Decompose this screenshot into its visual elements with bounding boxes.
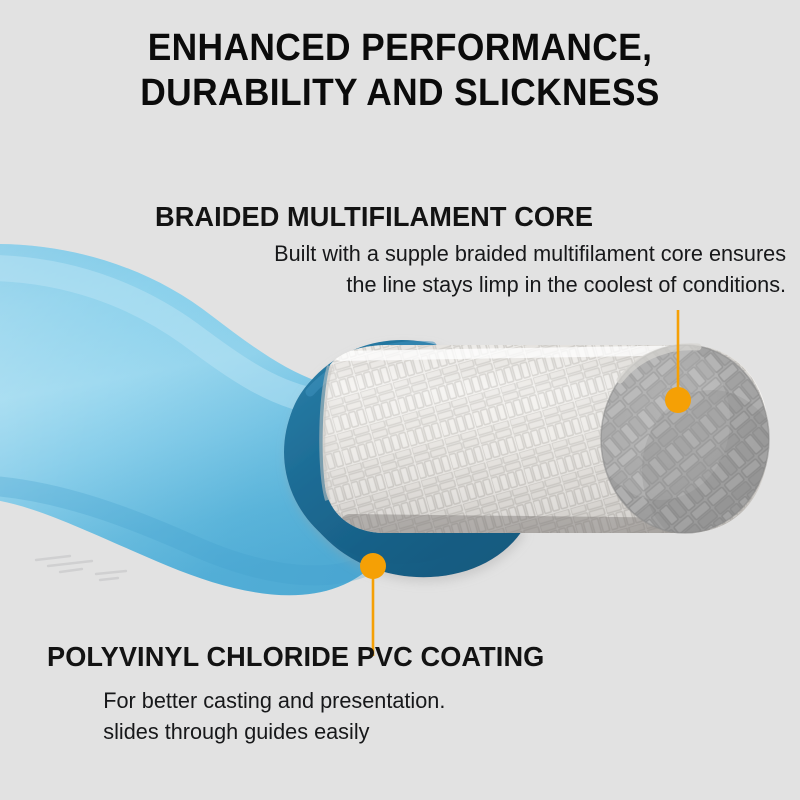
- page-title: ENHANCED PERFORMANCE, DURABILITY AND SLI…: [0, 26, 800, 116]
- callout-pvc-coating-body-line-1: For better casting and presentation.: [103, 685, 794, 716]
- callout-pvc-coating-body: For better casting and presentation. sli…: [98, 685, 800, 747]
- callout-pvc-coating-heading: POLYVINYL CHLORIDE PVC COATING: [47, 640, 777, 673]
- marker-dot-pvc-coating: [360, 553, 386, 579]
- callout-pvc-coating-body-line-2: slides through guides easily: [103, 716, 794, 747]
- title-line-2: DURABILITY AND SLICKNESS: [28, 71, 772, 116]
- title-line-1: ENHANCED PERFORMANCE,: [28, 26, 772, 71]
- callout-braided-core-body: Built with a supple braided multifilamen…: [0, 238, 800, 300]
- callout-braided-core-body-line-2: the line stays limp in the coolest of co…: [6, 269, 786, 300]
- callout-braided-core-body-line-1: Built with a supple braided multifilamen…: [6, 238, 786, 269]
- cylinder-bottom-shadow: [350, 524, 700, 528]
- infographic-canvas: ENHANCED PERFORMANCE, DURABILITY AND SLI…: [0, 0, 800, 800]
- callout-braided-core-heading: BRAIDED MULTIFILAMENT CORE: [155, 200, 781, 233]
- marker-dot-braided-core: [665, 387, 691, 413]
- callout-pvc-coating: POLYVINYL CHLORIDE PVC COATING For bette…: [0, 640, 800, 747]
- callout-braided-core: BRAIDED MULTIFILAMENT CORE Built with a …: [0, 200, 800, 300]
